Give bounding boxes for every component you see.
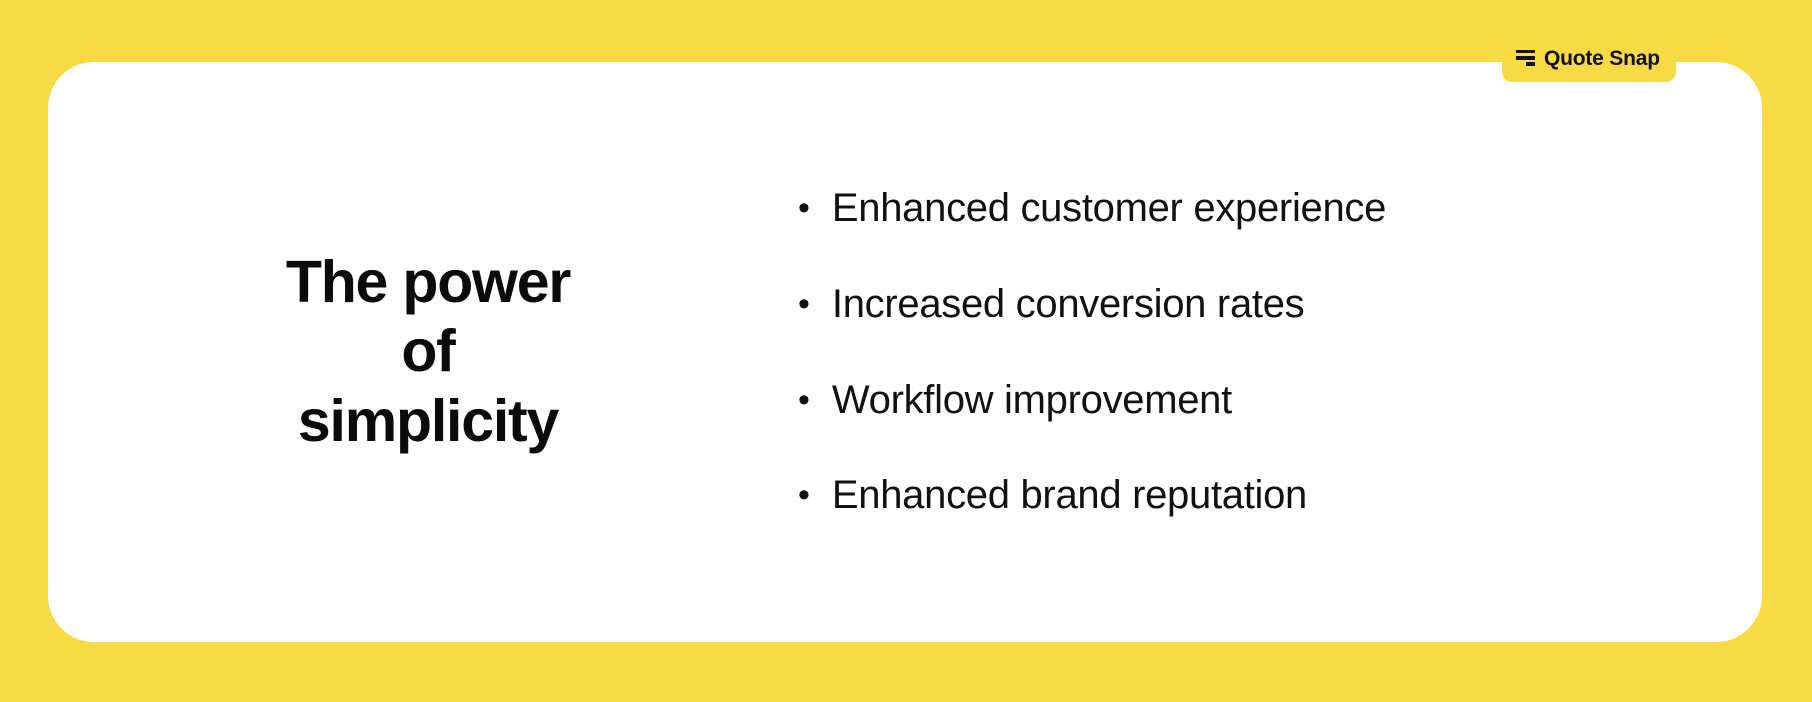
list-item-label: Enhanced customer experience <box>832 186 1386 231</box>
list-item: • Increased conversion rates <box>798 282 1762 327</box>
benefits-column: • Enhanced customer experience • Increas… <box>788 186 1762 518</box>
card-columns: The power of simplicity • Enhanced custo… <box>48 62 1762 642</box>
page-title-line-2: simplicity <box>298 388 558 454</box>
page-title-line-1: The power of <box>286 249 570 384</box>
bullet-icon: • <box>798 287 810 321</box>
brand-badge-label: Quote Snap <box>1544 48 1660 69</box>
page-title: The power of simplicity <box>263 248 593 455</box>
heading-column: The power of simplicity <box>48 248 788 455</box>
bullet-icon: • <box>798 383 810 417</box>
list-item-label: Increased conversion rates <box>832 282 1304 327</box>
align-left-lines-icon <box>1516 50 1535 67</box>
list-item: • Enhanced customer experience <box>798 186 1762 231</box>
list-item: • Workflow improvement <box>798 378 1762 423</box>
bullet-icon: • <box>798 478 810 512</box>
brand-badge[interactable]: Quote Snap <box>1502 34 1676 82</box>
bullet-icon: • <box>798 191 810 225</box>
benefits-list: • Enhanced customer experience • Increas… <box>798 186 1762 518</box>
list-item-label: Enhanced brand reputation <box>832 473 1307 518</box>
list-item-label: Workflow improvement <box>832 378 1232 423</box>
slide-root: Quote Snap The power of simplicity • Enh… <box>0 0 1812 702</box>
list-item: • Enhanced brand reputation <box>798 473 1762 518</box>
